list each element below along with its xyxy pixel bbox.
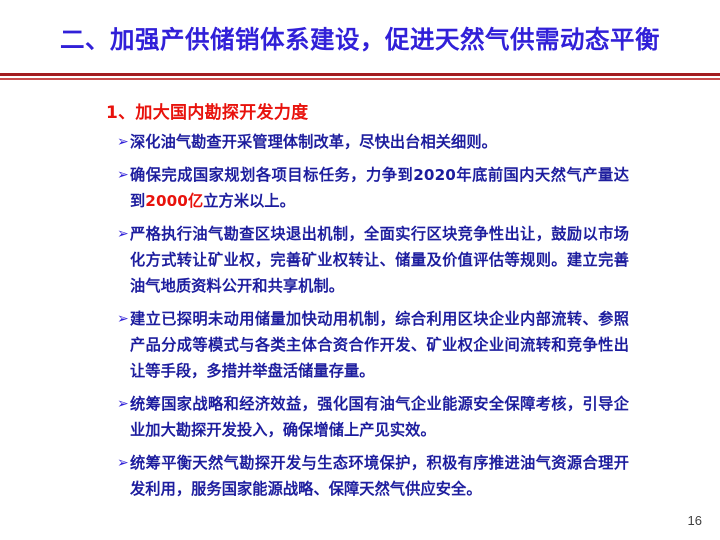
- arrow-bullet-icon: ➢: [117, 306, 130, 332]
- list-item-text: 确保完成国家规划各项目标任务，力争到2020年底前国内天然气产量达到2000亿立…: [130, 162, 629, 214]
- arrow-bullet-icon: ➢: [117, 129, 130, 155]
- slide-title: 二、加强产供储销体系建设，促进天然气供需动态平衡: [0, 27, 720, 54]
- bullet-list: ➢深化油气勘查开采管理体制改革，尽快出台相关细则。➢确保完成国家规划各项目标任务…: [117, 129, 629, 509]
- highlighted-figure: 2000亿: [145, 192, 203, 210]
- list-item: ➢严格执行油气勘查区块退出机制，全面实行区块竞争性出让，鼓励以市场化方式转让矿业…: [117, 221, 629, 299]
- arrow-bullet-icon: ➢: [117, 221, 130, 247]
- list-item: ➢建立已探明未动用储量加快动用机制，综合利用区块企业内部流转、参照产品分成等模式…: [117, 306, 629, 384]
- list-item-text: 深化油气勘查开采管理体制改革，尽快出台相关细则。: [130, 129, 629, 155]
- text-run: 统筹国家战略和经济效益，强化国有油气企业能源安全保障考核，引导企业加大勘探开发投…: [130, 395, 629, 439]
- divider-line-thin: [0, 78, 720, 80]
- arrow-bullet-icon: ➢: [117, 450, 130, 476]
- text-run: 统筹平衡天然气勘探开发与生态环境保护，积极有序推进油气资源合理开发利用，服务国家…: [130, 454, 629, 498]
- list-item: ➢确保完成国家规划各项目标任务，力争到2020年底前国内天然气产量达到2000亿…: [117, 162, 629, 214]
- arrow-bullet-icon: ➢: [117, 162, 130, 188]
- list-item: ➢深化油气勘查开采管理体制改革，尽快出台相关细则。: [117, 129, 629, 155]
- section-heading: 1、加大国内勘探开发力度: [106, 98, 308, 123]
- text-run: 立方米以上。: [203, 192, 295, 210]
- list-item-text: 统筹平衡天然气勘探开发与生态环境保护，积极有序推进油气资源合理开发利用，服务国家…: [130, 450, 629, 502]
- list-item-text: 严格执行油气勘查区块退出机制，全面实行区块竞争性出让，鼓励以市场化方式转让矿业权…: [130, 221, 629, 299]
- text-run: 建立已探明未动用储量加快动用机制，综合利用区块企业内部流转、参照产品分成等模式与…: [130, 310, 629, 380]
- text-run: 严格执行油气勘查区块退出机制，全面实行区块竞争性出让，鼓励以市场化方式转让矿业权…: [130, 225, 629, 295]
- list-item: ➢统筹国家战略和经济效益，强化国有油气企业能源安全保障考核，引导企业加大勘探开发…: [117, 391, 629, 443]
- list-item-text: 建立已探明未动用储量加快动用机制，综合利用区块企业内部流转、参照产品分成等模式与…: [130, 306, 629, 384]
- title-divider: [0, 73, 720, 83]
- list-item: ➢统筹平衡天然气勘探开发与生态环境保护，积极有序推进油气资源合理开发利用，服务国…: [117, 450, 629, 502]
- arrow-bullet-icon: ➢: [117, 391, 130, 417]
- text-run: 深化油气勘查开采管理体制改革，尽快出台相关细则。: [130, 133, 497, 151]
- page-number: 16: [688, 513, 702, 528]
- presentation-slide: 二、加强产供储销体系建设，促进天然气供需动态平衡 1、加大国内勘探开发力度 ➢深…: [0, 0, 720, 540]
- list-item-text: 统筹国家战略和经济效益，强化国有油气企业能源安全保障考核，引导企业加大勘探开发投…: [130, 391, 629, 443]
